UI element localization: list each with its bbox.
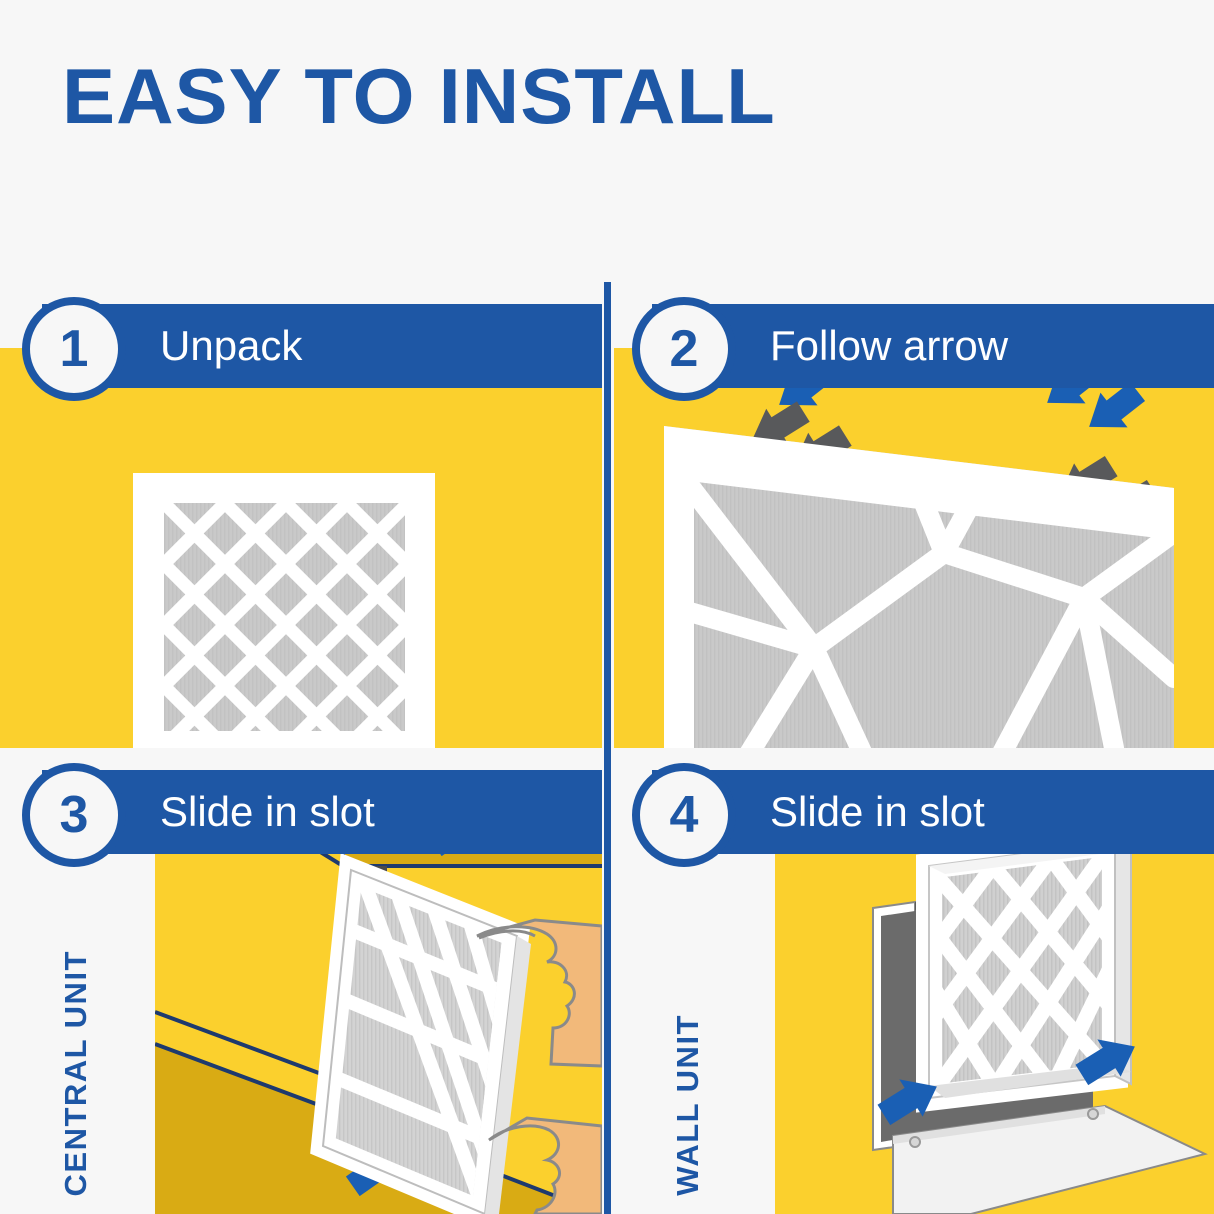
step-2-header-bar: Follow arrow [652, 304, 1214, 388]
step-3-number-badge: 3 [22, 763, 126, 867]
step-4-label: Slide in slot [770, 791, 985, 833]
central-unit-scene-svg [155, 814, 602, 1214]
step-1-number-badge: 1 [22, 297, 126, 401]
step-panel-3: Slide in slot 3 CENTRAL UNIT [0, 748, 602, 1214]
step-1-header-bar: Unpack [42, 304, 602, 388]
step-2-label: Follow arrow [770, 325, 1008, 367]
step-4-illustration [775, 814, 1214, 1214]
step-panel-1: Unpack 1 [0, 282, 602, 748]
step-1-illustration [0, 348, 602, 748]
step-4-number-badge: 4 [632, 763, 736, 867]
screw-icon [1088, 1109, 1098, 1119]
step-4-header-bar: Slide in slot [652, 770, 1214, 854]
step-2-number-badge: 2 [632, 297, 736, 401]
step-3-label: Slide in slot [160, 791, 375, 833]
step-3-header-bar: Slide in slot [42, 770, 602, 854]
tilted-air-filter-svg [614, 348, 1214, 748]
step-3-illustration [155, 814, 602, 1214]
step-4-side-label: WALL UNIT [670, 1014, 706, 1196]
step-2-illustration [614, 348, 1214, 748]
screw-icon [910, 1137, 920, 1147]
page-title: EASY TO INSTALL [62, 52, 776, 140]
infographic-root: EASY TO INSTALL [0, 0, 1214, 1214]
step-panel-2: Follow arrow 2 [614, 282, 1214, 748]
wall-unit-scene-svg [775, 814, 1214, 1214]
flat-air-filter-svg [0, 348, 602, 748]
step-panel-4: Slide in slot 4 WALL UNIT [614, 748, 1214, 1214]
step-3-side-label: CENTRAL UNIT [58, 950, 94, 1196]
step-1-label: Unpack [160, 325, 302, 367]
steps-grid: Unpack 1 [0, 282, 1214, 1214]
